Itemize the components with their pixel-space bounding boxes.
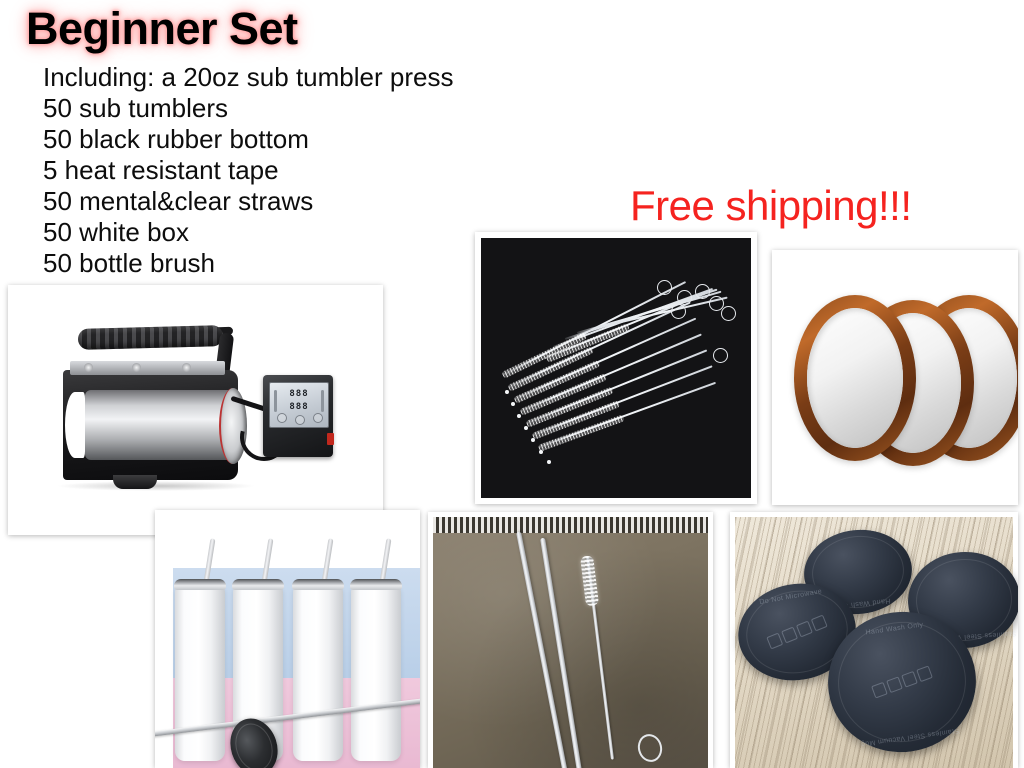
- brush-tip: [524, 426, 528, 430]
- press-control-box: 888 888: [263, 375, 333, 457]
- tape-photo-inner: [772, 250, 1018, 505]
- black-rubber-bottoms-photo: Hand Wash Only Stainless Steel Vacuum Mu…: [730, 512, 1018, 768]
- brush-wire: [591, 297, 728, 330]
- page-title: Beginner Set: [26, 6, 298, 51]
- brush-hang-loop: [721, 306, 736, 321]
- product-collage-canvas: Beginner Set Including: a 20oz sub tumbl…: [0, 0, 1024, 768]
- press-body: [63, 370, 238, 480]
- spec-line: 50 sub tumblers: [43, 93, 603, 124]
- brush-tip: [511, 402, 515, 406]
- free-shipping-badge: Free shipping!!!: [630, 182, 912, 230]
- press-plate-bolt: [132, 363, 141, 372]
- brush-hang-loop: [657, 280, 672, 295]
- tumbler-lid: [232, 579, 284, 590]
- heat-tape-roll: [794, 295, 916, 461]
- press-slider-icon: [321, 390, 324, 412]
- press-top-plate: [70, 361, 225, 375]
- brush-photo-inner: [475, 232, 757, 504]
- press-display-timer: 888: [270, 402, 328, 412]
- press-slider-icon: [274, 390, 277, 412]
- sub-tumbler: [175, 586, 225, 761]
- metal-straws-and-brush-photo: [428, 512, 713, 768]
- tumbler-lid: [350, 579, 402, 590]
- brush-hang-loop: [671, 304, 686, 319]
- press-photo-inner: 888 888: [8, 285, 383, 535]
- spec-line: Including: a 20oz sub tumbler press: [43, 62, 603, 93]
- brush-tip: [531, 438, 535, 442]
- spec-line: 5 heat resistant tape: [43, 155, 603, 186]
- brush-photo-backdrop: [481, 238, 751, 498]
- brush-tip: [517, 414, 521, 418]
- spec-line: 50 black rubber bottom: [43, 124, 603, 155]
- press-handle-grip: [78, 325, 224, 350]
- heat-resistant-tape-photo: [772, 250, 1018, 505]
- brush-tip: [547, 460, 551, 464]
- tape-core: [807, 308, 903, 448]
- bottoms-photo-inner: Hand Wash Only Stainless Steel Vacuum Mu…: [730, 512, 1018, 768]
- press-heating-drum: [85, 390, 233, 460]
- brush-hang-loop: [713, 348, 728, 363]
- sub-tumbler: [351, 586, 401, 761]
- press-plate-bolt: [182, 363, 191, 372]
- brush-tip: [505, 390, 509, 394]
- press-base-foot: [113, 475, 157, 489]
- brush-hang-loop: [695, 284, 710, 299]
- press-plate-bolt: [84, 363, 93, 372]
- straws-photo-inner: [428, 512, 713, 768]
- press-power-switch: [327, 433, 334, 445]
- tumbler-heat-press-photo: 888 888: [8, 285, 383, 535]
- tumbler-lid: [292, 579, 344, 590]
- sub-tumbler: [293, 586, 343, 761]
- spec-line: 50 mental&clear straws: [43, 186, 603, 217]
- press-display-temperature: 888: [270, 389, 328, 399]
- bottle-brush-bundle-photo: [475, 232, 757, 504]
- press-button-icon: [277, 413, 287, 423]
- press-side-cutout: [65, 392, 85, 458]
- tumblers-photo-inner: [155, 510, 420, 768]
- brush-hang-loop: [677, 290, 692, 305]
- press-button-icon: [313, 413, 323, 423]
- tumbler-lid: [174, 579, 226, 590]
- press-button-icon: [295, 415, 305, 425]
- press-control-screen: 888 888: [269, 382, 329, 428]
- brush-tip: [539, 450, 543, 454]
- white-sub-tumblers-photo: [155, 510, 420, 768]
- straws-woven-edge: [433, 517, 708, 533]
